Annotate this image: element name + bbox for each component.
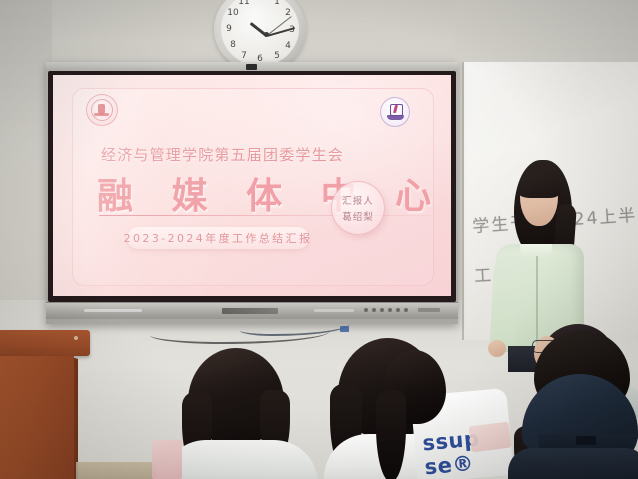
youth-league-emblem-icon <box>380 97 410 127</box>
reporter-badge: 汇报人 葛绍梨 <box>331 181 385 235</box>
clock-numeral-11: 11 <box>238 0 250 7</box>
desk-object-left <box>152 440 182 479</box>
clock-numeral-4: 4 <box>282 41 294 51</box>
desk-object-right <box>469 422 512 453</box>
clock-numeral-7: 7 <box>238 51 250 61</box>
lectern-body <box>0 356 74 479</box>
audience-hair-left <box>376 390 406 479</box>
display-vent-right <box>314 309 354 312</box>
slide-subtitle: 经济与管理学院第五届团委学生会 <box>101 144 344 165</box>
display-port-slot[interactable] <box>418 308 440 312</box>
classroom-photo-scene: 学生干部2024上半年度 工作 评 12 1 2 3 4 5 6 7 8 9 1… <box>0 0 638 479</box>
reporter-name: 葛绍梨 <box>342 209 374 223</box>
clock-center-pin <box>264 32 269 37</box>
display-sensor-icon <box>246 64 257 70</box>
display-bezel: 经济与管理学院第五届团委学生会 融 媒 体 中 心 2023-2024年度工作总… <box>48 71 456 302</box>
clock-numeral-10: 10 <box>227 8 239 18</box>
presentation-slide[interactable]: 经济与管理学院第五届团委学生会 融 媒 体 中 心 2023-2024年度工作总… <box>53 75 451 296</box>
slide-date-text: 2023-2024年度工作总结汇报 <box>124 230 313 246</box>
cap-wearer-shoulders <box>508 448 638 479</box>
clock-numeral-12: 12 <box>254 0 266 3</box>
slide-date-pill: 2023-2024年度工作总结汇报 <box>127 227 309 249</box>
clock-numeral-1: 1 <box>271 0 283 7</box>
display-bottom-bezel <box>46 302 458 319</box>
audience-member-cap <box>508 330 638 479</box>
audience-member-left <box>178 348 298 479</box>
clock-numeral-8: 8 <box>227 40 239 50</box>
wall-clock: 12 1 2 3 4 5 6 7 8 9 10 11 <box>214 0 306 58</box>
clock-numeral-5: 5 <box>271 51 283 61</box>
audience-member-right-hair <box>382 350 452 479</box>
floor-baseboard <box>76 462 156 479</box>
slide-main-title: 融 媒 体 中 心 <box>97 167 444 219</box>
cable-clip <box>340 326 349 332</box>
title-underline <box>99 215 319 216</box>
display-vent-left <box>84 309 142 312</box>
reporter-label: 汇报人 <box>342 193 374 207</box>
display-top-bezel <box>46 62 458 71</box>
clock-numeral-9: 9 <box>223 24 235 34</box>
lectern-top <box>0 330 90 356</box>
display-brand-logo <box>222 308 278 314</box>
audience-shoulders <box>162 440 318 479</box>
display-screen[interactable]: 经济与管理学院第五届团委学生会 融 媒 体 中 心 2023-2024年度工作总… <box>53 75 451 296</box>
presenter-hand <box>488 340 506 357</box>
lectern-knob <box>74 336 78 340</box>
interactive-display[interactable]: 经济与管理学院第五届团委学生会 融 媒 体 中 心 2023-2024年度工作总… <box>46 62 458 324</box>
display-control-buttons[interactable] <box>364 308 408 312</box>
cap-strap <box>576 436 596 445</box>
university-seal-icon <box>86 94 118 126</box>
clock-numeral-2: 2 <box>282 8 294 18</box>
